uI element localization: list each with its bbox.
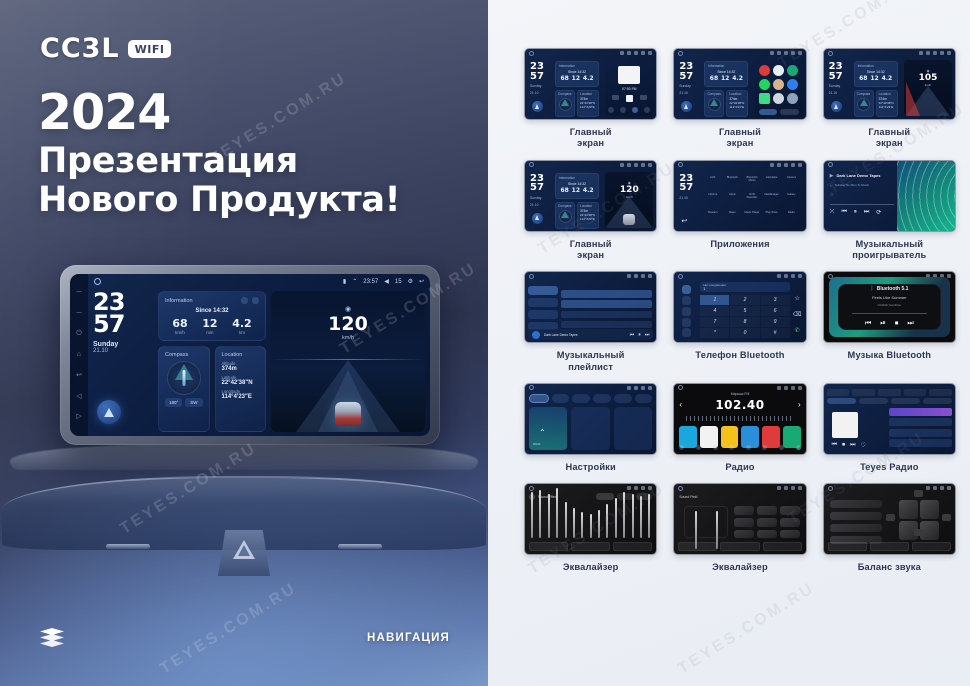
mini-compass-card[interactable]: Compass [854, 90, 874, 117]
eq-field-sliders[interactable] [684, 506, 728, 538]
dial-key-star[interactable]: * [700, 328, 729, 338]
mini-info-title: Information [559, 64, 595, 68]
next-station-icon[interactable]: › [798, 400, 801, 409]
tab-channels[interactable] [852, 389, 875, 396]
radio-toolbar-icon[interactable] [762, 445, 767, 450]
screen-thumbnail[interactable]: 2357 21.10 ↩ AUX Bluetooth Blueto [673, 160, 806, 232]
grid-cell-balance[interactable]: Баланс звука [823, 483, 956, 573]
home-indicator-icon[interactable] [678, 385, 683, 390]
pause-icon[interactable]: ⏸ [854, 209, 857, 216]
radio-toolbar-icon[interactable] [746, 445, 751, 450]
dial-key-6[interactable]: 6 [761, 306, 790, 316]
settings-card-carlink[interactable] [571, 407, 609, 450]
favorite-icon[interactable]: ♡ [860, 442, 865, 449]
sidebar-item-albums[interactable] [528, 298, 558, 307]
eq-effect-button[interactable] [780, 518, 800, 527]
mini-location-card[interactable]: Location 374m 22°42'38"N 114°4'23"E [577, 202, 599, 229]
eq-band-slider[interactable] [573, 508, 575, 538]
back-icon[interactable]: ↩ [75, 372, 83, 380]
settings-icon[interactable] [641, 51, 645, 55]
eq-band-slider[interactable] [632, 494, 634, 538]
sidebar-item-contacts[interactable] [682, 296, 691, 305]
app-icon[interactable] [759, 79, 770, 90]
teyes-radio-filters[interactable] [827, 398, 952, 404]
settings-icon[interactable] [648, 274, 652, 278]
app-tile[interactable]: FileManager [763, 192, 780, 207]
head-unit-screen[interactable]: ⏤ ⏤ ⏻ ⌂ ↩ ◁ ▷ ▮ ⌃ 23:57 [70, 274, 430, 436]
favorite-icon[interactable]: ☆ [830, 192, 894, 198]
eq-band-slider[interactable] [581, 512, 583, 538]
tab-field[interactable] [720, 542, 759, 551]
radio-toolbar[interactable] [679, 444, 800, 451]
mini-information-card[interactable]: Information Since 14:32 68 12 4.2 [555, 61, 599, 87]
eq-effect-button[interactable] [757, 530, 777, 539]
dial-key-7[interactable]: 7 [700, 317, 729, 327]
media-tab-icon[interactable] [620, 107, 626, 113]
eq-effect-button[interactable] [734, 518, 754, 527]
teyes-radio-tabs[interactable] [827, 389, 952, 396]
home-indicator-icon[interactable] [828, 51, 833, 56]
tab-favorites[interactable] [904, 389, 927, 396]
seek-bar[interactable] [830, 204, 894, 205]
volume-down-icon[interactable]: ◁ [75, 393, 83, 401]
app-tile[interactable]: Calculator [763, 175, 780, 190]
screen-thumbnail[interactable]: ▶ Dark Lane Demo Tapes ♪ Subway So Men T… [823, 160, 956, 232]
list-item[interactable] [561, 290, 652, 298]
filter-chip[interactable] [891, 398, 920, 404]
mini-right-pane[interactable]: ◉ 120 km/h [605, 172, 653, 228]
app-icon[interactable] [773, 93, 784, 104]
prev-icon[interactable] [612, 95, 619, 100]
dial-key-3[interactable]: 3 [761, 295, 790, 305]
information-card-actions[interactable] [241, 297, 259, 304]
settings-cards[interactable] [529, 407, 652, 450]
home-indicator-icon[interactable] [678, 162, 683, 167]
tab-live[interactable] [827, 389, 850, 396]
home-indicator-icon[interactable] [678, 274, 683, 279]
dial-key-8[interactable]: 8 [730, 317, 759, 327]
tab-genres[interactable] [878, 389, 901, 396]
home-indicator-icon[interactable] [529, 385, 534, 390]
eq-preset-button[interactable] [596, 493, 614, 500]
dial-pad[interactable]: 1 23 456 789 *0# [700, 295, 789, 338]
dial-key-hash[interactable]: # [761, 328, 790, 338]
thumbnail-caption: Главный экран [570, 127, 612, 150]
eq-band-slider[interactable] [623, 492, 625, 538]
tab-wifi[interactable] [529, 394, 549, 403]
navigation-fab-button[interactable] [97, 400, 121, 424]
tab-apps[interactable] [614, 394, 632, 403]
phone-actions[interactable]: ☆ ⌫ ✆ [791, 290, 804, 338]
screen-thumbnail[interactable]: ⌃ WI-FI [524, 383, 657, 455]
eq-band-slider[interactable] [531, 492, 533, 538]
balance-preset-rear[interactable] [830, 512, 883, 520]
station-list[interactable] [889, 408, 952, 450]
seek-bar[interactable] [852, 313, 927, 314]
balance-preset-front[interactable] [830, 500, 883, 508]
speaker-front-left[interactable] [899, 500, 918, 519]
radio-dial[interactable] [686, 416, 793, 421]
back-icon[interactable] [648, 51, 652, 55]
tab-fader[interactable] [613, 542, 652, 551]
list-item[interactable] [889, 429, 952, 437]
grid-cell-home-drive[interactable]: 2357 Sunday21.10 Information Since 14:32… [823, 48, 956, 150]
list-item[interactable] [889, 439, 952, 447]
mini-information-card[interactable]: Information Since 14:32 68 12 4.2 [555, 173, 599, 199]
eq-band-slider[interactable] [606, 504, 608, 538]
app-tile[interactable]: Shazam [704, 210, 721, 225]
app-icon[interactable] [759, 93, 770, 104]
hazard-button[interactable] [218, 530, 270, 576]
settings-icon[interactable] [798, 486, 802, 490]
eq-band-slider[interactable] [648, 494, 650, 538]
balance-down-button[interactable] [914, 529, 923, 536]
list-item[interactable] [561, 300, 652, 308]
home-icon[interactable]: ⌂ [75, 351, 83, 359]
sidebar-item-artists[interactable] [528, 310, 558, 319]
app-label: Bluetooth Music [744, 176, 761, 182]
app-tile[interactable]: Clock [724, 192, 741, 207]
settings-icon[interactable] [641, 163, 645, 167]
screen-thumbnail[interactable]: 2357 Sunday21.10 Information Since 14:32… [524, 48, 657, 120]
headline-line2: Нового Продукта! [38, 181, 400, 220]
driving-view-card[interactable]: ◉ 120 km/h [271, 291, 425, 432]
radio-toolbar-icon[interactable] [679, 445, 684, 450]
tab-eq[interactable] [828, 542, 867, 551]
screen-thumbnail[interactable] [823, 483, 956, 555]
app-icon[interactable] [787, 65, 798, 76]
grid-cell-playlist[interactable]: Dark Lane Demo Tapes ⏮ ⏸ ⏭ Музыкальный п… [524, 271, 657, 373]
back-icon[interactable] [798, 163, 802, 167]
balance-presets[interactable] [830, 500, 883, 544]
tab-history[interactable] [929, 389, 952, 396]
dial-key-5[interactable]: 5 [730, 306, 759, 316]
next-icon[interactable] [640, 95, 647, 100]
grid-cell-radio[interactable]: Маршак FM 102.40 ‹ › Радио [673, 383, 806, 473]
app-drawer-grid[interactable]: AUX Bluetooth Bluetooth Music Calculator [702, 173, 801, 227]
information-card[interactable]: Information Since 14:32 68 km/h [158, 291, 266, 341]
compass-card[interactable]: Compass 180° SW [158, 346, 210, 432]
sidebar-item-tracks[interactable] [528, 286, 558, 295]
app-tile[interactable]: Bluetooth [724, 175, 741, 190]
play-pause-icon[interactable]: ⏯ [880, 320, 886, 328]
mini-clock-widget[interactable]: 2357 Sunday21.10 [829, 62, 843, 95]
tab-general[interactable] [593, 394, 611, 403]
app-icon[interactable] [787, 93, 798, 104]
screen-thumbnail[interactable]: Маршак FM 102.40 ‹ › [673, 383, 806, 455]
play-icon[interactable]: ▶ [830, 173, 834, 179]
previous-icon[interactable]: ⏮ [841, 209, 846, 216]
mute-icon[interactable]: ⏤ [75, 309, 83, 317]
screen-thumbnail[interactable]: ⏮ ⏹ ⏭ ♡ [823, 383, 956, 455]
screen-thumbnail[interactable]: Sound Effect [524, 483, 657, 555]
dial-key-2[interactable]: 2 [730, 295, 759, 305]
app-icon[interactable] [773, 79, 784, 90]
tab-fader[interactable] [912, 542, 951, 551]
tab-eq[interactable] [678, 542, 717, 551]
volume-icon[interactable]: ⏤ [75, 288, 83, 296]
mini-location-card[interactable]: Location 374m 22°42'38"N 114°4'23"E [726, 90, 748, 117]
balance-left-button[interactable] [886, 514, 895, 521]
settings-icon[interactable]: ⚙ [408, 278, 413, 285]
stop-icon[interactable]: ⏹ [842, 442, 845, 449]
backspace-icon[interactable]: ⌫ [793, 311, 801, 318]
eq-preset-button[interactable] [617, 493, 633, 500]
eq-effect-button[interactable] [780, 530, 800, 539]
settings-icon[interactable] [940, 51, 944, 55]
sidebar-item-settings[interactable] [682, 328, 691, 337]
dial-key-0[interactable]: 0 [730, 328, 759, 338]
screen-thumbnail[interactable]: 2357 Sunday21.10 Information Since 14:32… [524, 160, 657, 232]
volume-up-icon[interactable]: ▷ [75, 413, 83, 421]
back-icon[interactable] [947, 51, 951, 55]
location-card[interactable]: Location Altitude 374m Latitude 22°42'38… [215, 346, 267, 432]
grid-cell-home-media[interactable]: 2357 Sunday21.10 Information Since 14:32… [524, 48, 657, 150]
tab-eq[interactable] [529, 542, 568, 551]
app-label: Play Store [763, 211, 780, 214]
settings-icon[interactable] [791, 51, 795, 55]
eq-effect-button[interactable] [757, 506, 777, 515]
app-tile[interactable]: Bluetooth Music [744, 175, 761, 190]
eq-effect-button[interactable] [780, 506, 800, 515]
next-icon[interactable]: ⏭ [850, 442, 855, 449]
mini-compass-card[interactable]: Compass [704, 90, 724, 117]
settings-card-more[interactable] [614, 407, 652, 450]
eq-effect-buttons[interactable] [734, 506, 799, 538]
radio-toolbar-icon[interactable] [779, 445, 784, 450]
back-status-icon[interactable]: ↩ [419, 278, 424, 285]
grid-cell-equalizer[interactable]: Sound Effect Эквалайзер [524, 483, 657, 573]
app-tile[interactable]: Maps [724, 210, 741, 225]
dock-button[interactable] [780, 109, 799, 115]
app-icon[interactable] [773, 65, 784, 76]
shuffle-icon[interactable]: ⤫ [830, 209, 835, 216]
dial-key-1[interactable]: 1 [700, 295, 729, 305]
clock-widget[interactable]: 23 57 Sunday 21.10 [93, 291, 153, 432]
phone-number-field[interactable]: Нет соединения 1 [700, 282, 789, 292]
home-indicator-icon[interactable] [529, 51, 534, 56]
eq-tabs[interactable] [529, 542, 652, 551]
mini-compass-card[interactable]: Compass [555, 90, 575, 117]
app-tile[interactable]: Chrome [704, 192, 721, 207]
settings-tabs[interactable] [529, 394, 652, 403]
tab-system[interactable] [635, 394, 653, 403]
mini-clock-widget[interactable]: 2357 Sunday21.10 [679, 62, 693, 95]
dial-key-4[interactable]: 4 [700, 306, 729, 316]
next-icon[interactable]: ⏭ [864, 209, 869, 216]
navigation-fab-button[interactable] [532, 213, 543, 224]
signal-icon [777, 274, 781, 278]
filter-chip[interactable] [859, 398, 888, 404]
longitude-value: 114°4'23"E [222, 394, 260, 400]
navigation-fab-button[interactable] [532, 101, 543, 112]
eq-band-sliders[interactable] [531, 506, 650, 538]
back-icon[interactable]: ↩ [681, 217, 687, 225]
eq-band-slider[interactable] [640, 496, 642, 538]
home-indicator-icon[interactable] [678, 51, 683, 56]
expand-icon[interactable] [252, 297, 259, 304]
dial-key-9[interactable]: 9 [761, 317, 790, 327]
settings-icon[interactable] [947, 486, 951, 490]
back-icon[interactable] [798, 51, 802, 55]
bt-title: Bluetooth 5.1 [877, 286, 909, 292]
settings-icon[interactable] [798, 386, 802, 390]
mini-information-card[interactable]: Information Since 14:32 68 12 4.2 [704, 61, 748, 87]
app-icon[interactable] [787, 79, 798, 90]
mini-information-card[interactable]: Information Since 14:32 68 12 4.2 [854, 61, 898, 87]
app-tile[interactable]: Radio [783, 210, 800, 225]
power-icon[interactable]: ⏻ [75, 330, 83, 338]
mini-clock-widget[interactable]: 2357 Sunday21.10 [530, 62, 544, 95]
grid-cell-home-apps[interactable]: 2357 Sunday21.10 Information Since 14:32… [673, 48, 806, 150]
radio-toolbar-icon[interactable] [713, 445, 718, 450]
screen-thumbnail[interactable]: Нет соединения 1 1 23 456 789 *0# ☆ ⌫ ✆ [673, 271, 806, 343]
app-icon[interactable] [759, 65, 770, 76]
home-indicator-icon[interactable] [678, 486, 683, 491]
grid-cell-music-player[interactable]: ▶ Dark Lane Demo Tapes ♪ Subway So Men T… [823, 160, 956, 262]
repeat-icon[interactable]: ⟳ [876, 209, 881, 216]
app-tile[interactable]: DVR Recorder [744, 192, 761, 207]
list-item[interactable] [889, 418, 952, 426]
next-icon[interactable]: ⏭ [907, 320, 913, 328]
sidebar-item-history[interactable] [682, 318, 691, 327]
eq-effect-button[interactable] [734, 530, 754, 539]
radio-toolbar-icon[interactable] [796, 445, 801, 450]
screen-side-rail[interactable]: ⏤ ⏤ ⏻ ⌂ ↩ ◁ ▷ [70, 274, 88, 436]
eq-preset-label[interactable]: Sound Effect [529, 494, 557, 500]
screen-thumbnail[interactable]: 2357 Sunday21.10 Information Since 14:32… [673, 48, 806, 120]
app-tile[interactable]: Camera [783, 175, 800, 190]
previous-icon[interactable]: ⏮ [832, 442, 837, 449]
balance-up-button[interactable] [914, 490, 923, 497]
eq-tabs[interactable] [828, 542, 951, 551]
mini-clock-widget[interactable]: 2357 Sunday21.10 [530, 174, 544, 207]
screen-thumbnail[interactable]: Sound Field [673, 483, 806, 555]
thumbnail-caption: Главный экран [570, 239, 612, 262]
screen-thumbnail[interactable]: Dark Lane Demo Tapes ⏮ ⏸ ⏭ [524, 271, 657, 343]
speaker-front-right[interactable] [920, 500, 939, 519]
stop-icon[interactable]: ⏹ [895, 320, 899, 328]
back-icon[interactable] [648, 163, 652, 167]
pause-icon[interactable]: ⏸ [638, 332, 641, 338]
refresh-icon[interactable] [241, 297, 248, 304]
balance-right-button[interactable] [942, 514, 951, 521]
phone-sidebar[interactable] [677, 284, 695, 338]
screen-thumbnail[interactable]: 2357 Sunday21.10 Information Since 14:32… [823, 48, 956, 120]
app-label: Shazam [704, 211, 721, 214]
grid-cell-equalizer2[interactable]: Sound Field Эквалайзер [673, 483, 806, 573]
tab-sound[interactable] [552, 394, 570, 403]
mini-right-pane[interactable]: 07:50 FM [605, 60, 653, 116]
navigation-fab-button[interactable] [681, 101, 692, 112]
home-indicator-icon[interactable] [828, 486, 833, 491]
eq-band-slider[interactable] [598, 510, 600, 538]
mini-location-card[interactable]: Location 374m 22°42'38"N 114°4'23"E [577, 90, 599, 117]
mini-right-pane[interactable]: ◉ 105 km/h [904, 60, 952, 116]
eq-effect-button[interactable] [734, 506, 754, 515]
player-controls[interactable]: ⤫ ⏮ ⏸ ⏭ ⟳ [830, 209, 894, 216]
dock-button[interactable] [759, 109, 778, 115]
favorite-icon[interactable]: ☆ [794, 295, 799, 302]
mini-clock-widget[interactable]: 2357 21.10 [679, 174, 693, 200]
sidebar-item-search[interactable] [682, 307, 691, 316]
media-tab-icon[interactable] [608, 107, 614, 113]
settings-icon[interactable] [947, 274, 951, 278]
eq-tabs[interactable] [678, 542, 801, 551]
grid-cell-bt-music[interactable]: ᛒ Bluetooth 5.1 Feels Like Summer Childi… [823, 271, 956, 373]
mini-compass-card[interactable]: Compass [555, 202, 575, 229]
list-item[interactable] [561, 311, 652, 319]
balance-preset-left[interactable] [830, 524, 883, 532]
settings-icon[interactable] [648, 486, 652, 490]
eq-band-slider[interactable] [548, 494, 550, 538]
playlist-sidebar[interactable] [528, 284, 558, 330]
tab-display[interactable] [572, 394, 590, 403]
tab-field[interactable] [571, 542, 610, 551]
filter-chip[interactable] [827, 398, 856, 404]
tab-field[interactable] [870, 542, 909, 551]
radio-toolbar-icon[interactable] [729, 445, 734, 450]
media-tab-icon[interactable] [644, 107, 650, 113]
sidebar-item-dialpad[interactable] [682, 285, 691, 294]
track-row[interactable]: ▶ Dark Lane Demo Tapes [830, 173, 894, 179]
stop-icon[interactable] [626, 95, 633, 102]
tab-fader[interactable] [763, 542, 802, 551]
navigation-fab-button[interactable] [831, 101, 842, 112]
app-tile[interactable]: Music Player [744, 210, 761, 225]
eq-band-slider[interactable] [565, 502, 567, 538]
bt-controls[interactable]: ⏮ ⏯ ⏹ ⏭ [865, 320, 914, 328]
grid-cell-teyes-radio[interactable]: ⏮ ⏹ ⏭ ♡ Teyes Радио [823, 383, 956, 473]
home-indicator-icon[interactable] [94, 278, 101, 285]
list-item[interactable] [889, 408, 952, 416]
teyes-radio-controls[interactable]: ⏮ ⏹ ⏭ ♡ [832, 442, 866, 449]
mini-location-card[interactable]: Location 374m 22°42'38"N 114°4'23"E [876, 90, 898, 117]
previous-icon[interactable]: ⏮ [630, 332, 635, 338]
settings-icon[interactable] [648, 386, 652, 390]
settings-icon[interactable] [798, 274, 802, 278]
eq-band-slider[interactable] [556, 488, 558, 538]
previous-station-icon[interactable]: ‹ [679, 400, 682, 409]
home-indicator-icon[interactable] [529, 486, 534, 491]
grid-cell-settings[interactable]: ⌃ WI-FI Настройки [524, 383, 657, 473]
location-title: Location [222, 352, 260, 358]
app-tile[interactable]: Play Store [763, 210, 780, 225]
playlist-player-bar[interactable]: Dark Lane Demo Tapes ⏮ ⏸ ⏭ [528, 329, 653, 340]
eq-band-slider[interactable] [590, 514, 592, 538]
home-indicator-icon[interactable] [529, 274, 534, 279]
filter-chip[interactable] [923, 398, 952, 404]
app-tile[interactable]: Gallery [783, 192, 800, 207]
playlist-rows[interactable] [561, 290, 652, 328]
grid-cell-app-drawer[interactable]: 2357 21.10 ↩ AUX Bluetooth Blueto [673, 160, 806, 262]
settings-icon[interactable] [791, 163, 795, 167]
home-indicator-icon[interactable] [529, 162, 534, 167]
grid-cell-home-speed[interactable]: 2357 Sunday21.10 Information Since 14:32… [524, 160, 657, 262]
grid-cell-bt-phone[interactable]: Нет соединения 1 1 23 456 789 *0# ☆ ⌫ ✆ … [673, 271, 806, 373]
app-tile[interactable]: AUX [704, 175, 721, 190]
previous-icon[interactable]: ⏮ [865, 320, 871, 328]
media-tab-icon[interactable] [632, 107, 638, 113]
list-item[interactable] [561, 321, 652, 329]
mini-right-pane[interactable] [755, 60, 803, 116]
call-icon[interactable]: ✆ [795, 327, 800, 334]
eq-band-slider[interactable] [615, 498, 617, 538]
next-icon[interactable]: ⏭ [645, 332, 650, 338]
eq-effect-button[interactable] [757, 518, 777, 527]
radio-toolbar-icon[interactable] [696, 445, 701, 450]
screen-thumbnail[interactable]: ᛒ Bluetooth 5.1 Feels Like Summer Childi… [823, 271, 956, 343]
